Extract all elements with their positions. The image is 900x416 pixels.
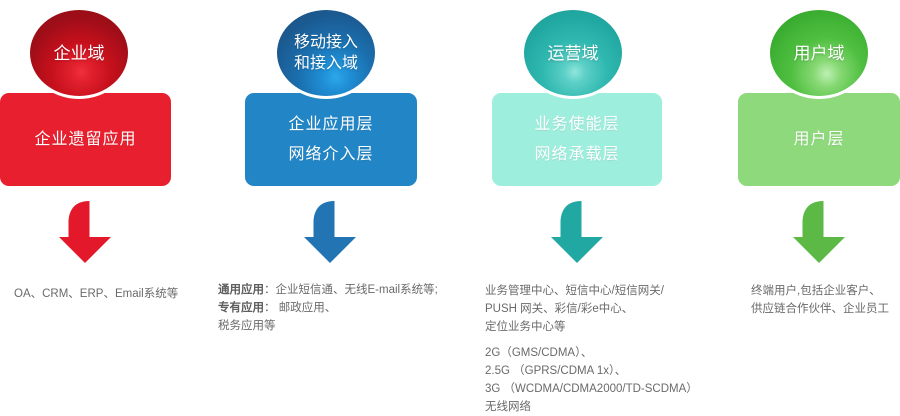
layer-box-label: 用户层: [793, 130, 844, 150]
down-arrow-icon: [59, 201, 111, 263]
layer-box-mobile-access[interactable]: 企业应用层 网络介入层: [245, 93, 417, 186]
layer-box-operation[interactable]: 业务使能层 网络承载层: [492, 93, 662, 186]
caption-user: 终端用户,包括企业客户、 供应链合作伙伴、企业员工: [751, 282, 889, 318]
down-arrow-icon: [551, 201, 603, 263]
caption-line: 2.5G （GPRS/CDMA 1x）、: [485, 362, 698, 380]
caption-line: 专有应用： 邮政应用、: [218, 299, 438, 317]
layer-box-user[interactable]: 用户层: [738, 93, 900, 186]
caption-line: PUSH 网关、彩信/彩e中心、: [485, 300, 664, 318]
caption-enterprise: OA、CRM、ERP、Email系统等: [14, 285, 178, 303]
caption-line: 通用应用：企业短信通、无线E-mail系统等;: [218, 281, 438, 299]
caption-line: 供应链合作伙伴、企业员工: [751, 300, 889, 318]
caption-line: 终端用户,包括企业客户、: [751, 282, 889, 300]
domain-circle-enterprise[interactable]: 企业域: [27, 7, 131, 99]
caption-line: 无线网络: [485, 398, 698, 416]
caption-line: 税务应用等: [218, 317, 438, 335]
caption-line: 定位业务中心等: [485, 318, 664, 336]
down-arrow-icon: [304, 201, 356, 263]
layer-box-enterprise[interactable]: 企业遗留应用: [0, 93, 171, 186]
caption-line: 2G（GMS/CDMA）、: [485, 344, 698, 362]
domain-circle-label: 移动接入: [294, 32, 358, 53]
domain-circle-mobile-access[interactable]: 移动接入 和接入域: [274, 7, 378, 99]
layer-box-label: 企业遗留应用: [34, 130, 136, 150]
diagram-column-operation: 业务使能层 网络承载层 运营域 业务管理中心、短信中心/短信网关/ PUSH 网…: [462, 0, 738, 404]
caption-operation-services: 业务管理中心、短信中心/短信网关/ PUSH 网关、彩信/彩e中心、 定位业务中…: [485, 282, 664, 336]
down-arrow-icon: [793, 201, 845, 263]
caption-mobile-access: 通用应用：企业短信通、无线E-mail系统等; 专有应用： 邮政应用、 税务应用…: [218, 281, 438, 335]
domain-circle-label: 企业域: [54, 42, 105, 65]
caption-line: 业务管理中心、短信中心/短信网关/: [485, 282, 664, 300]
caption-line: OA、CRM、ERP、Email系统等: [14, 285, 178, 303]
diagram-column-enterprise: 企业遗留应用 企业域 OA、CRM、ERP、Email系统等: [0, 0, 230, 404]
diagram-column-mobile-access: 企业应用层 网络介入层 移动接入 和接入域 通用应用：企业短信通、无线E-mai…: [230, 0, 462, 404]
domain-circle-operation[interactable]: 运营域: [521, 7, 625, 99]
diagram-column-user: 用户层 用户域 终端用户,包括企业客户、 供应链合作伙伴、企业员工: [738, 0, 900, 404]
domain-circle-user[interactable]: 用户域: [767, 7, 871, 99]
layer-box-label: 网络承载层: [534, 140, 619, 170]
caption-line: 3G （WCDMA/CDMA2000/TD-SCDMA）: [485, 380, 698, 398]
domain-circle-label: 运营域: [548, 42, 599, 65]
caption-operation-networks: 2G（GMS/CDMA）、 2.5G （GPRS/CDMA 1x）、 3G （W…: [485, 344, 698, 416]
architecture-diagram: 企业遗留应用 企业域 OA、CRM、ERP、Email系统等 企业应用层 网络介…: [0, 0, 900, 404]
domain-circle-label: 和接入域: [294, 53, 358, 74]
layer-box-label: 企业应用层: [288, 110, 373, 140]
domain-circle-label: 用户域: [794, 42, 845, 65]
layer-box-label: 业务使能层: [534, 110, 619, 140]
layer-box-label: 网络介入层: [288, 140, 373, 170]
